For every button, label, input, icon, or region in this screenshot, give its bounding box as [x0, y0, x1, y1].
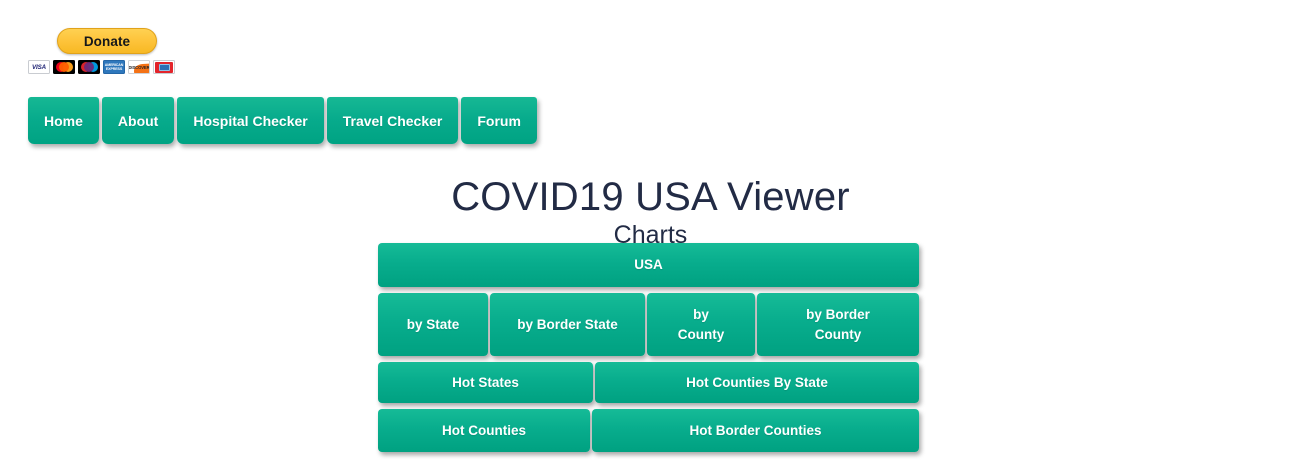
mastercard-card-icon — [53, 60, 75, 74]
donate-button[interactable]: Donate — [57, 28, 157, 54]
donate-block: Donate VISA AMERICAN EXPRESS DISCOVER — [28, 28, 188, 74]
chart-button-hot-states[interactable]: Hot States — [378, 362, 593, 403]
chart-button-by-state[interactable]: by State — [378, 293, 488, 356]
payment-methods-strip: VISA AMERICAN EXPRESS DISCOVER — [28, 60, 188, 74]
maestro-overlap — [84, 62, 94, 72]
visa-card-icon: VISA — [28, 60, 50, 74]
nav-item-travel-checker[interactable]: Travel Checker — [327, 97, 459, 144]
bank-card-body — [155, 62, 173, 73]
nav-item-home[interactable]: Home — [28, 97, 99, 144]
chart-row-hot-counties: Hot Counties Hot Border Counties — [378, 409, 919, 452]
chart-row-hot-states: Hot States Hot Counties By State — [378, 362, 919, 403]
amex-card-icon: AMERICAN EXPRESS — [103, 60, 125, 74]
discover-card-icon: DISCOVER — [128, 60, 150, 74]
chart-button-by-border-county[interactable]: by BorderCounty — [757, 293, 919, 356]
visa-card-label: VISA — [32, 64, 46, 71]
discover-card-label: DISCOVER — [128, 65, 149, 70]
chart-button-hot-counties-by-state[interactable]: Hot Counties By State — [595, 362, 919, 403]
amex-card-label: AMERICAN EXPRESS — [104, 63, 124, 71]
bank-card-icon — [153, 60, 175, 74]
mastercard-overlap — [59, 62, 69, 72]
chart-row-geography: by State by Border State byCounty by Bor… — [378, 293, 919, 356]
chart-button-grid: USA by State by Border State byCounty by… — [378, 243, 919, 452]
nav-item-forum[interactable]: Forum — [461, 97, 537, 144]
nav-item-hospital-checker[interactable]: Hospital Checker — [177, 97, 323, 144]
chart-button-hot-border-counties[interactable]: Hot Border Counties — [592, 409, 919, 452]
page-title: COVID19 USA Viewer — [0, 175, 1301, 220]
chart-row-usa: USA — [378, 243, 919, 287]
chart-button-hot-counties[interactable]: Hot Counties — [378, 409, 590, 452]
chart-button-by-county[interactable]: byCounty — [647, 293, 755, 356]
maestro-card-icon — [78, 60, 100, 74]
maestro-circles — [81, 62, 98, 72]
mastercard-circles — [56, 62, 73, 72]
bank-card-chip — [159, 64, 170, 71]
chart-button-usa[interactable]: USA — [378, 243, 919, 287]
nav-item-about[interactable]: About — [102, 97, 174, 144]
chart-button-by-border-state[interactable]: by Border State — [490, 293, 645, 356]
main-navigation: Home About Hospital Checker Travel Check… — [28, 97, 537, 144]
